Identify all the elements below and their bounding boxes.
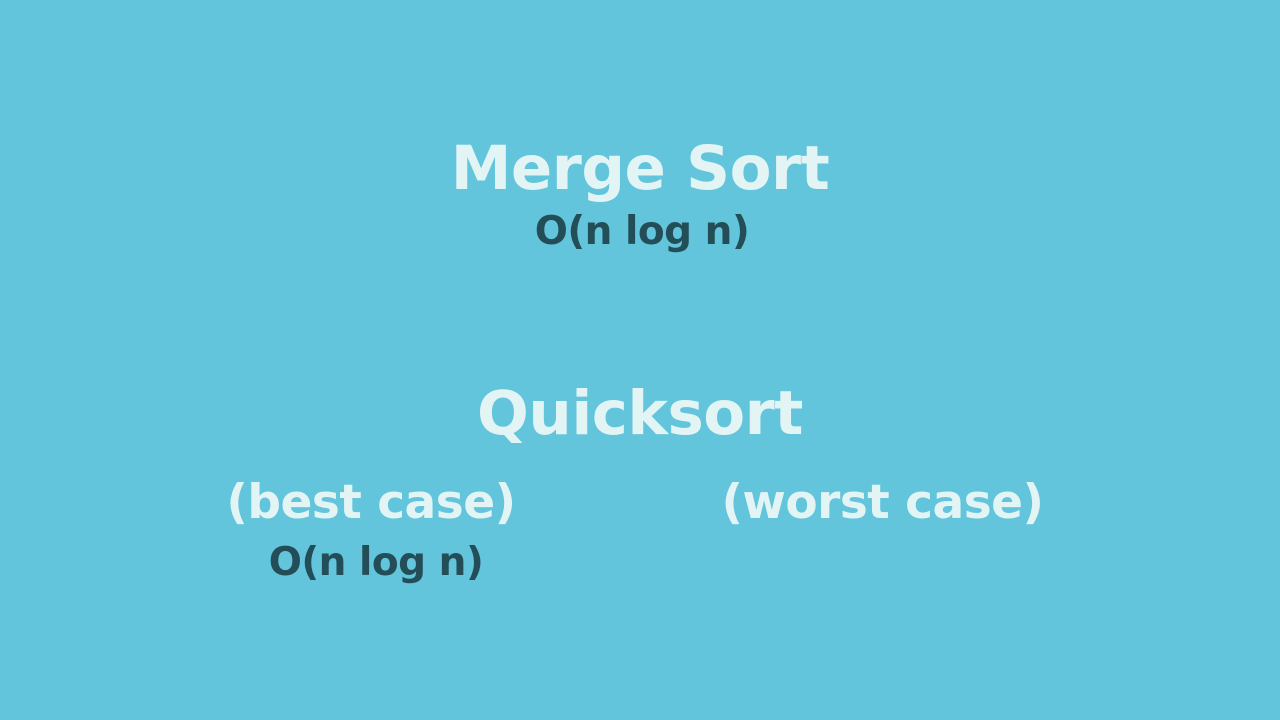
quicksort-best-case-column: (best case) O(n log n) — [180, 478, 562, 589]
quicksort-worst-case-label: (worst case) — [700, 478, 1065, 527]
quicksort-worst-case-column: (worst case) — [700, 478, 1065, 589]
quicksort-case-row: (best case) O(n log n) (worst case) — [0, 478, 1280, 658]
quicksort-title: Quicksort — [0, 383, 1280, 445]
slide-canvas: Merge Sort O(n log n) Quicksort (best ca… — [0, 0, 1280, 720]
quicksort-worst-case-complexity — [700, 543, 1065, 589]
quicksort-best-case-label: (best case) — [180, 478, 562, 527]
merge-sort-complexity: O(n log n) — [0, 212, 1280, 253]
quicksort-block: Quicksort — [0, 383, 1280, 445]
quicksort-best-case-complexity: O(n log n) — [180, 543, 562, 589]
merge-sort-title: Merge Sort — [0, 138, 1280, 200]
merge-sort-block: Merge Sort O(n log n) — [0, 138, 1280, 253]
